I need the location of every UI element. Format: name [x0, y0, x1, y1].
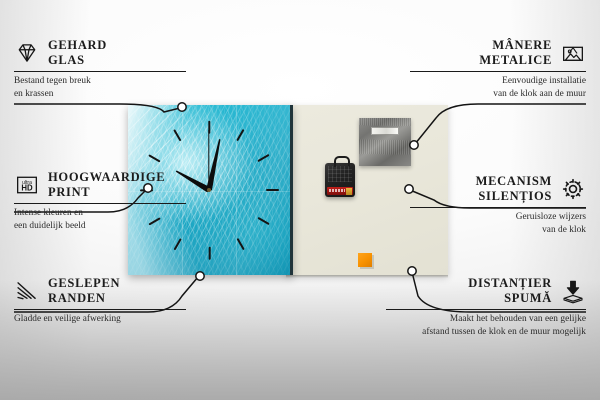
- feature-header: DISTANȚIER SPUMĂ: [386, 276, 586, 307]
- gear-icon: [560, 176, 586, 202]
- feature-divider: [14, 203, 186, 204]
- feature-divider: [14, 71, 186, 72]
- feature-description: Eenvoudige installatie van de klok aan d…: [410, 75, 586, 101]
- feature-divider: [386, 309, 586, 310]
- ultra-hd-icon: ultra HD: [14, 172, 40, 198]
- feature-geslepen-randen: GESLEPEN RANDEN Gladde en veilige afwerk…: [14, 276, 186, 326]
- feature-header: ultra HD HOOGWAARDIGE PRINT: [14, 170, 186, 201]
- battery-label: [329, 189, 345, 192]
- hanger-texture: [359, 118, 411, 166]
- feature-header: GESLEPEN RANDEN: [14, 276, 186, 307]
- feature-gehard-glas: GEHARD GLAS Bestand tegen breuk en krass…: [14, 38, 186, 101]
- diamond-icon: [14, 40, 40, 66]
- feature-divider: [410, 71, 586, 72]
- feature-header: GEHARD GLAS: [14, 38, 186, 69]
- feature-title: MÂNERE METALICE: [479, 38, 552, 69]
- battery: [327, 187, 353, 195]
- press-down-icon: [560, 278, 586, 304]
- feature-title: MECANISM SILENȚIOS: [476, 174, 552, 205]
- hanger-slot: [371, 127, 399, 135]
- feature-title: HOOGWAARDIGE PRINT: [48, 170, 165, 201]
- clock-tick-mark: [208, 246, 210, 259]
- picture-frame-icon: [560, 40, 586, 66]
- metal-hanger-plate: [359, 118, 411, 166]
- svg-text:HD: HD: [21, 184, 33, 193]
- feature-header: MÂNERE METALICE: [410, 38, 586, 69]
- feature-manere-metalice: MÂNERE METALICE Eenvoudige installatie v…: [410, 38, 586, 101]
- battery-positive-terminal: [346, 188, 352, 195]
- clock-mechanism: [325, 163, 355, 197]
- feature-description: Bestand tegen breuk en krassen: [14, 75, 186, 101]
- feature-hoogwaardige-print: ultra HD HOOGWAARDIGE PRINT Intense kleu…: [14, 170, 186, 233]
- feature-divider: [410, 207, 586, 208]
- infographic-canvas: GEHARD GLAS Bestand tegen breuk en krass…: [0, 0, 600, 400]
- feature-description: Intense kleuren en een duidelijk beeld: [14, 207, 186, 233]
- feature-description: Gladde en veilige afwerking: [14, 313, 186, 326]
- feature-description: Maakt het behouden van een gelijke afsta…: [386, 313, 586, 339]
- feature-description: Geruisloze wijzers van de klok: [410, 211, 586, 237]
- mechanism-texture: [328, 166, 352, 182]
- beveled-edges-icon: [14, 278, 40, 304]
- feature-distantier-spuma: DISTANȚIER SPUMĂ Maakt het behouden van …: [386, 276, 586, 339]
- feature-title: GESLEPEN RANDEN: [48, 276, 120, 307]
- feature-header: MECANISM SILENȚIOS: [410, 174, 586, 205]
- feature-divider: [14, 309, 186, 310]
- feature-title: GEHARD GLAS: [48, 38, 107, 69]
- clock-center-hub: [207, 188, 211, 192]
- feature-mecanism-silentios: MECANISM SILENȚIOS Geruisloze wijzers va…: [410, 174, 586, 237]
- feature-title: DISTANȚIER SPUMĂ: [468, 276, 552, 307]
- foam-spacer: [358, 253, 372, 267]
